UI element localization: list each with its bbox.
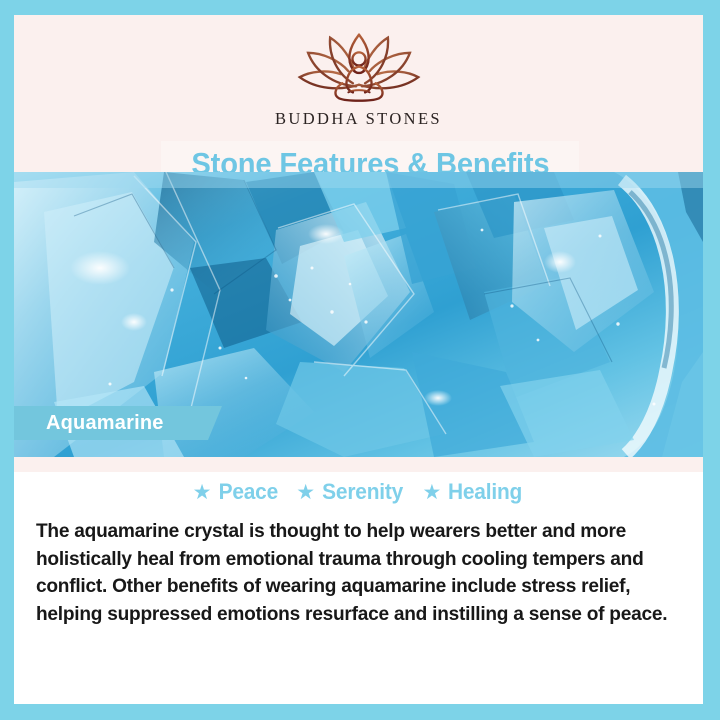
keyword-label: Peace xyxy=(218,479,277,505)
keyword-item-peace: ★ Peace xyxy=(193,479,280,505)
keyword-item-healing: ★ Healing xyxy=(422,479,524,505)
star-icon: ★ xyxy=(296,483,315,502)
stone-name-band: Aquamarine xyxy=(14,406,222,440)
keyword-label: Serenity xyxy=(322,479,403,505)
keyword-item-serenity: ★ Serenity xyxy=(296,479,405,505)
stone-name-label: Aquamarine xyxy=(46,412,164,435)
content-panel: ★ Peace ★ Serenity ★ Healing The aquamar… xyxy=(14,472,703,704)
poster-card: BUDDHA STONES Stone Features & Benefits xyxy=(14,15,703,704)
star-icon: ★ xyxy=(193,483,212,502)
brand-logo: BUDDHA STONES xyxy=(14,27,703,129)
lotus-meditation-icon xyxy=(283,27,435,103)
poster-frame: BUDDHA STONES Stone Features & Benefits xyxy=(0,0,720,720)
brand-name: BUDDHA STONES xyxy=(14,109,703,129)
star-icon: ★ xyxy=(422,483,441,502)
description-text: The aquamarine crystal is thought to hel… xyxy=(36,518,686,628)
section-divider xyxy=(14,457,703,472)
keyword-label: Healing xyxy=(448,479,522,505)
keyword-list: ★ Peace ★ Serenity ★ Healing xyxy=(14,479,703,505)
